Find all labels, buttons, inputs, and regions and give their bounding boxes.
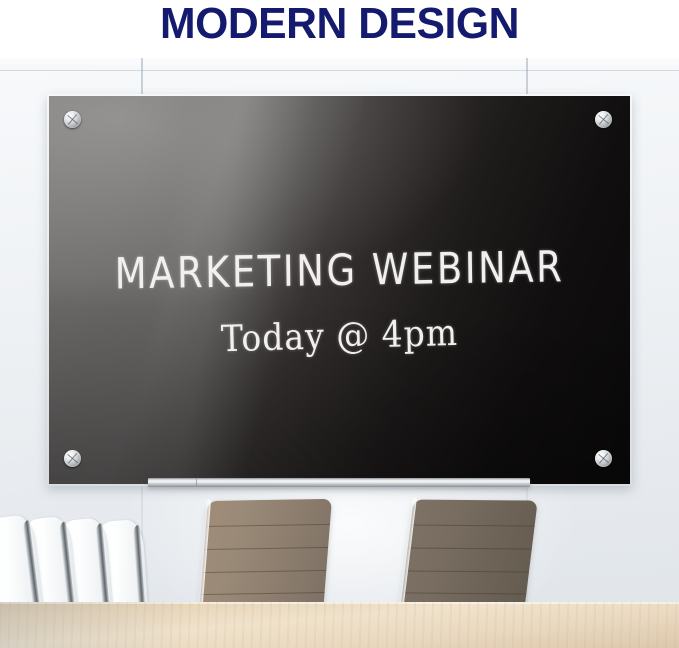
conference-room-scene: MARKETING WEBINAR Today @ 4pm bbox=[0, 56, 679, 648]
board-handwriting-group: MARKETING WEBINAR Today @ 4pm bbox=[49, 96, 630, 484]
board-reflection-sheen bbox=[49, 96, 377, 484]
board-reflection-sheen-secondary bbox=[119, 96, 315, 484]
product-image: MARKETING WEBINAR Today @ 4pm bbox=[0, 0, 679, 648]
conference-table bbox=[0, 602, 679, 648]
board-handwriting-subline: Today @ 4pm bbox=[49, 308, 630, 363]
page-title: MODERN DESIGN bbox=[10, 0, 669, 50]
standoff-mount-bottom-left-icon bbox=[64, 450, 81, 467]
board-writing-surface[interactable]: MARKETING WEBINAR Today @ 4pm bbox=[49, 96, 630, 484]
headline-band: MODERN DESIGN bbox=[0, 0, 679, 58]
standoff-mount-top-left-icon bbox=[64, 111, 81, 128]
standoff-mount-bottom-right-icon bbox=[595, 450, 612, 467]
wall-horizontal-seam bbox=[0, 70, 679, 71]
board-handwriting-headline: MARKETING WEBINAR bbox=[49, 243, 630, 299]
board-vignette bbox=[49, 96, 630, 484]
standoff-mount-top-right-icon bbox=[595, 111, 612, 128]
marker-tray[interactable] bbox=[148, 478, 530, 487]
glass-dry-erase-board[interactable]: MARKETING WEBINAR Today @ 4pm bbox=[47, 94, 632, 486]
marker-tray-seam bbox=[196, 479, 197, 486]
furniture-group bbox=[0, 486, 679, 648]
